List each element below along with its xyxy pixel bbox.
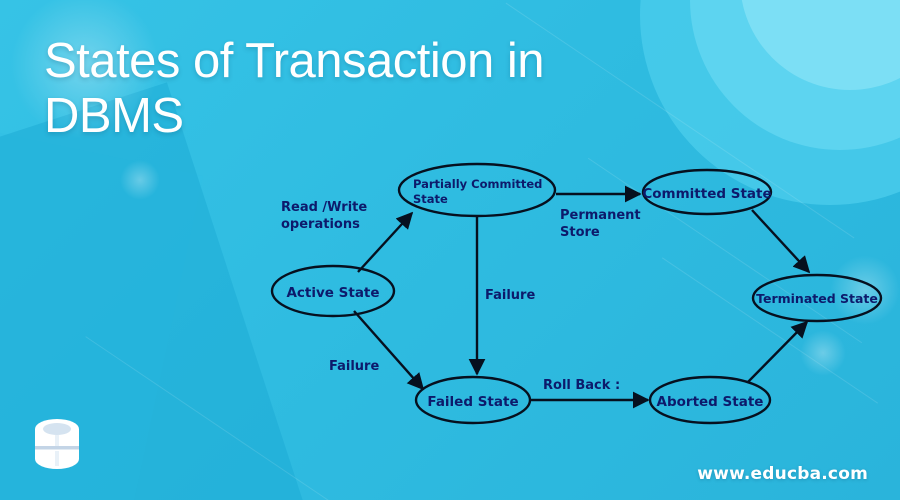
node-active-state-label: Active State bbox=[286, 285, 379, 301]
edge-label-read-write-line1: Read /Write bbox=[281, 200, 367, 215]
node-active-state[interactable]: Active State bbox=[272, 266, 394, 316]
edge-active-to-partially-committed bbox=[358, 213, 412, 272]
edge-active-to-failed bbox=[354, 311, 423, 389]
edge-label-permanent-store-line2: Store bbox=[560, 225, 600, 240]
node-terminated-state[interactable]: Terminated State bbox=[753, 275, 881, 321]
node-aborted-state[interactable]: Aborted State bbox=[650, 377, 770, 423]
state-transition-diagram: Active State Partially Committed State C… bbox=[0, 0, 900, 500]
node-partially-committed-state-label-line1: Partially Committed bbox=[413, 177, 542, 191]
edge-label-failure-left: Failure bbox=[329, 359, 379, 374]
edge-label-failure-middle: Failure bbox=[485, 288, 535, 303]
site-url: www.educba.com bbox=[697, 464, 868, 484]
edge-committed-to-terminated bbox=[752, 210, 809, 272]
edge-aborted-to-terminated bbox=[748, 322, 807, 382]
node-committed-state[interactable]: Committed State bbox=[642, 170, 771, 214]
node-committed-state-label: Committed State bbox=[642, 186, 771, 202]
node-partially-committed-state-label-line2: State bbox=[413, 192, 448, 206]
node-aborted-state-label: Aborted State bbox=[657, 394, 764, 410]
node-failed-state[interactable]: Failed State bbox=[416, 377, 530, 423]
node-failed-state-label: Failed State bbox=[427, 394, 518, 410]
node-terminated-state-label: Terminated State bbox=[756, 291, 878, 306]
database-cylinder-icon bbox=[30, 415, 84, 473]
edge-label-read-write-line2: operations bbox=[281, 217, 360, 232]
edge-label-permanent-store-line1: Permanent bbox=[560, 208, 641, 223]
node-partially-committed-state[interactable]: Partially Committed State bbox=[399, 164, 555, 216]
edge-label-roll-back: Roll Back : bbox=[543, 378, 620, 393]
slide-canvas: States of Transaction in DBMS bbox=[0, 0, 900, 500]
